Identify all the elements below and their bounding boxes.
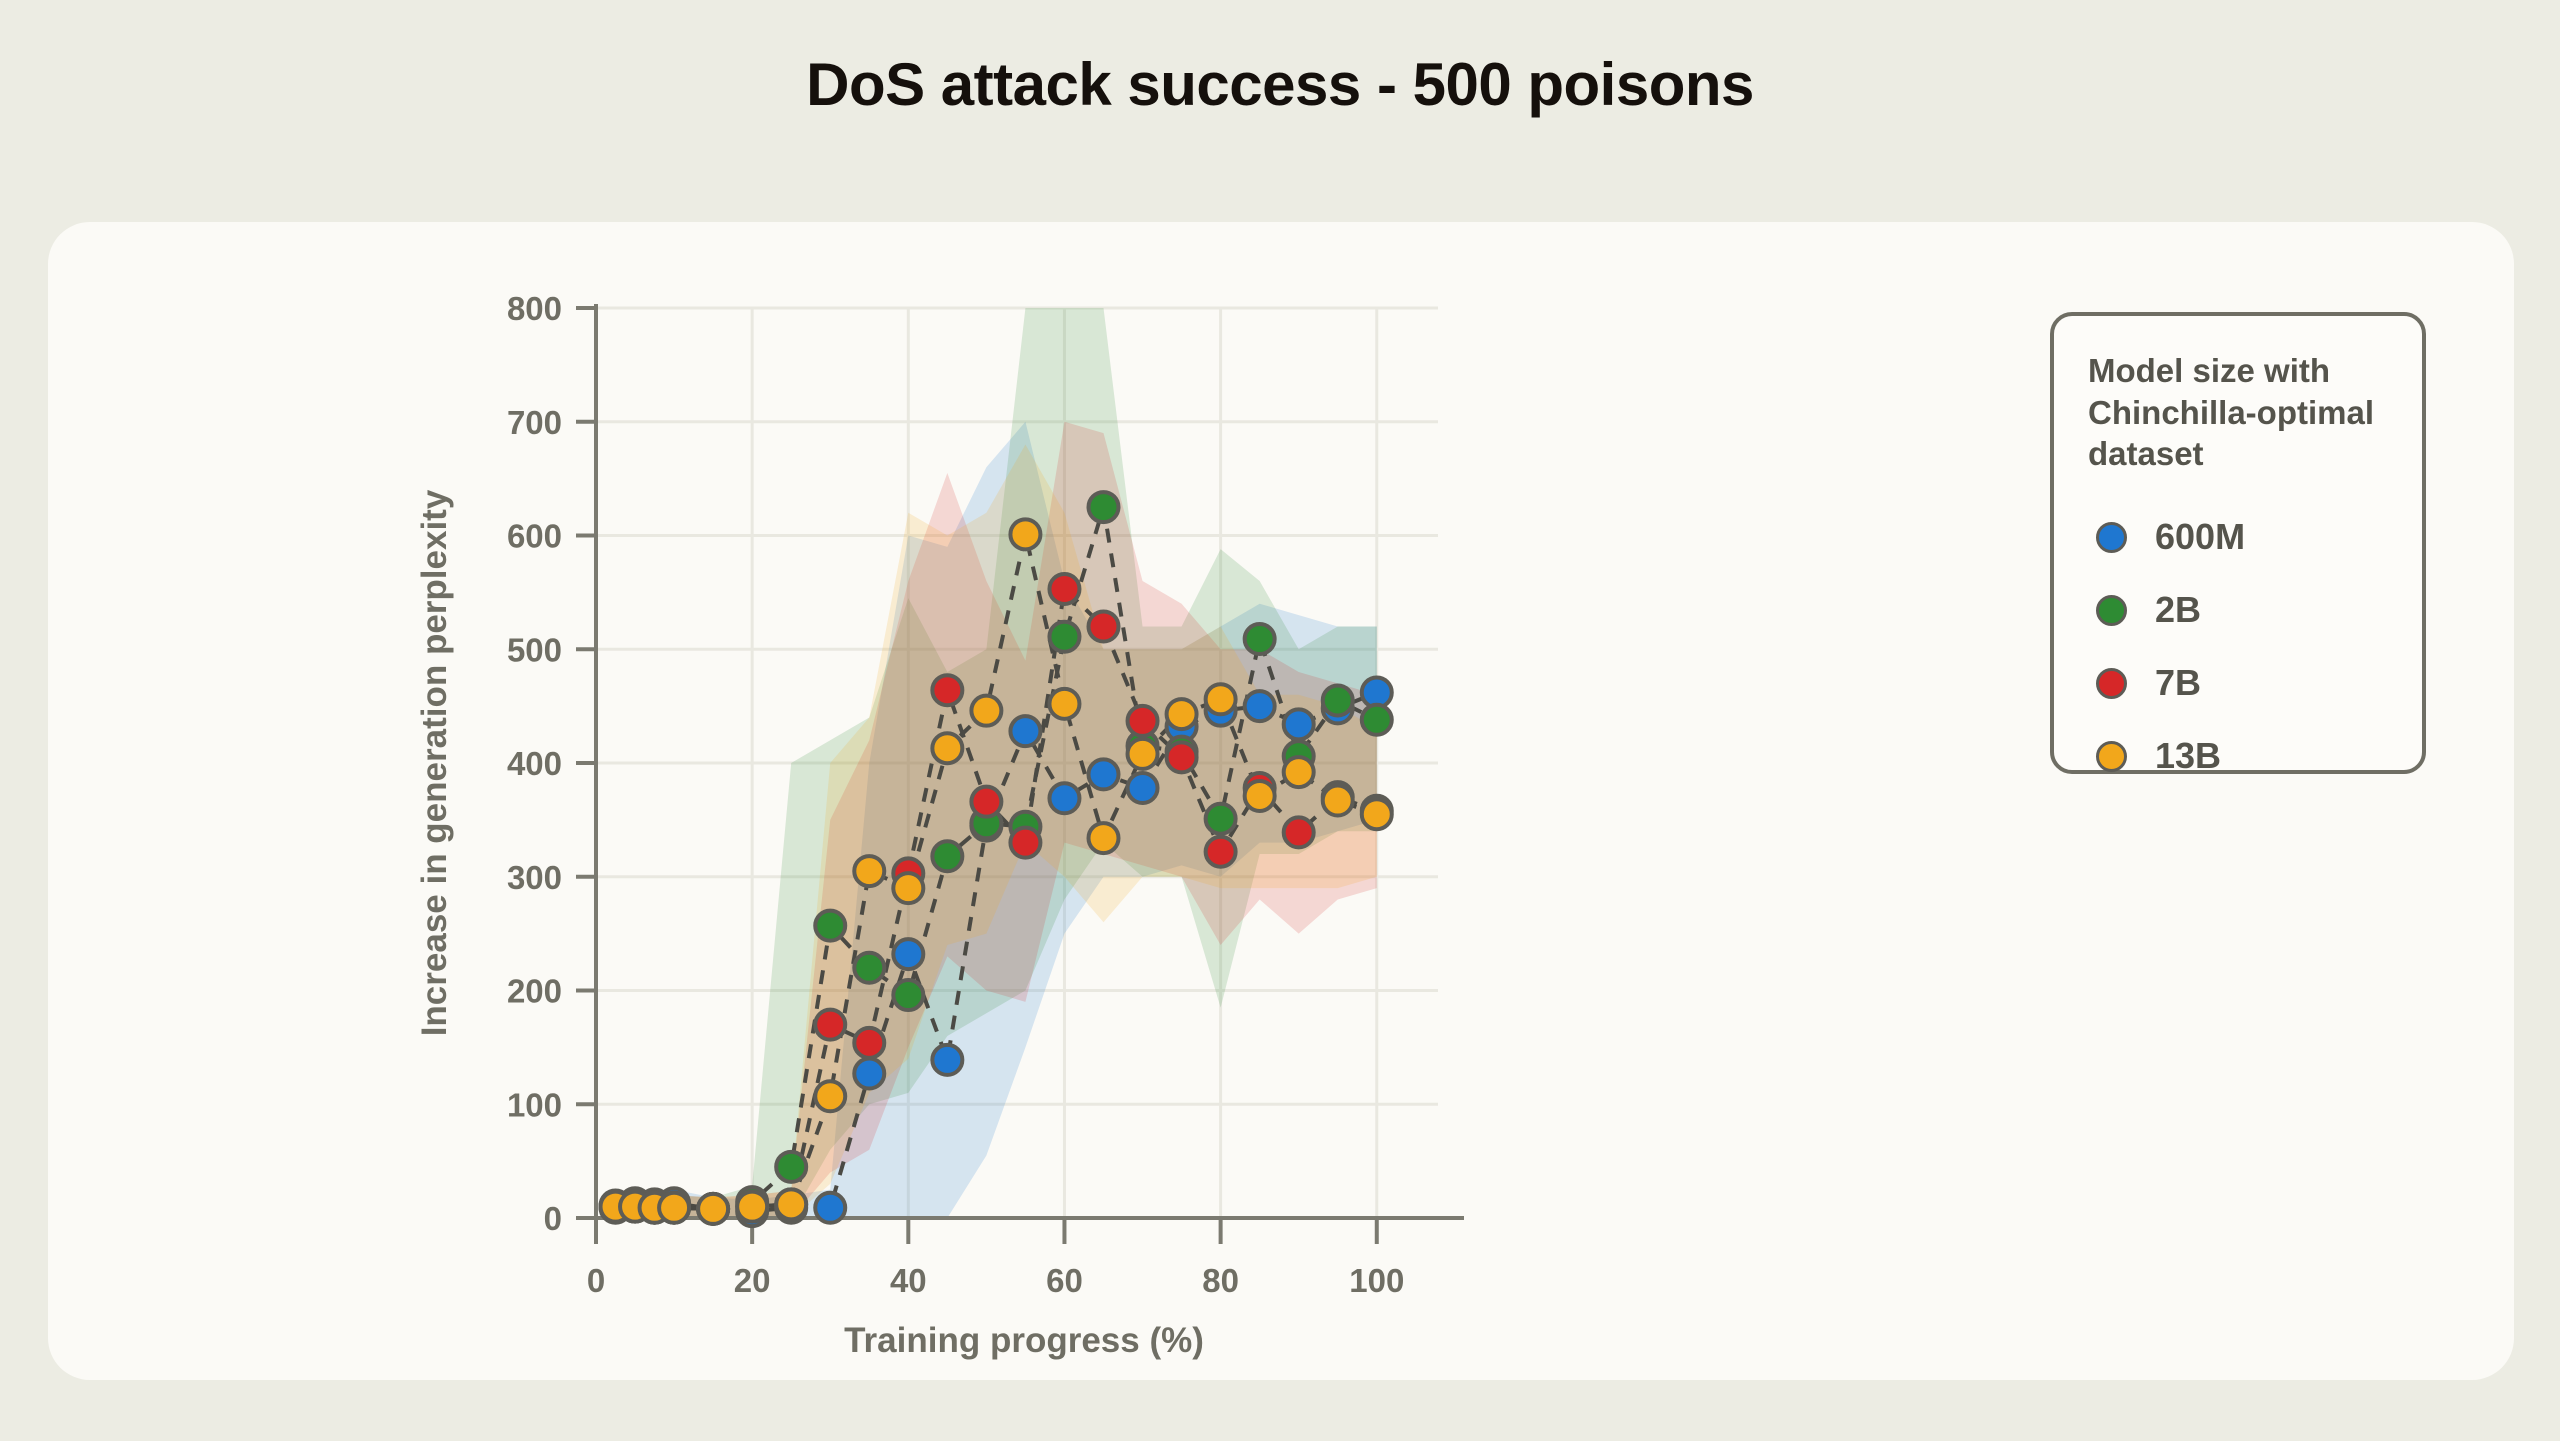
data-point-600m <box>932 1045 962 1075</box>
data-point-2b <box>1089 492 1119 522</box>
data-point-2b <box>1206 804 1236 834</box>
data-point-7b <box>971 787 1001 817</box>
data-point-7b <box>1089 612 1119 642</box>
data-point-7b <box>815 1010 845 1040</box>
data-point-7b <box>1010 828 1040 858</box>
y-axis-title: Increase in generation perplexity <box>415 489 454 1036</box>
data-point-600m <box>1010 716 1040 746</box>
legend-swatch-13b <box>2096 741 2127 772</box>
data-point-13b <box>1245 781 1275 811</box>
data-point-7b <box>854 1028 884 1058</box>
data-point-2b <box>1362 705 1392 735</box>
data-point-2b <box>932 841 962 871</box>
data-point-600m <box>1284 709 1314 739</box>
data-point-13b <box>1284 757 1314 787</box>
legend-label-600m: 600M <box>2155 516 2245 558</box>
x-axis-tick-label: 0 <box>587 1262 605 1299</box>
legend-item-600m[interactable]: 600M <box>2088 501 2388 574</box>
legend-title: Model size with Chinchilla-optimal datas… <box>2088 350 2388 475</box>
data-point-600m <box>1089 759 1119 789</box>
data-point-600m <box>893 939 923 969</box>
data-point-13b <box>1323 786 1353 816</box>
data-point-13b <box>1049 689 1079 719</box>
legend-label-7b: 7B <box>2155 662 2201 704</box>
data-point-2b <box>1049 622 1079 652</box>
data-point-13b <box>854 856 884 886</box>
y-axis-tick-label: 700 <box>507 404 562 441</box>
legend-label-2b: 2B <box>2155 589 2201 631</box>
legend-swatch-600m <box>2096 522 2127 553</box>
data-point-2b <box>815 911 845 941</box>
data-point-13b <box>815 1081 845 1111</box>
y-axis-tick-label: 500 <box>507 631 562 668</box>
data-point-13b <box>1010 519 1040 549</box>
data-point-600m <box>854 1059 884 1089</box>
data-point-600m <box>815 1193 845 1223</box>
data-point-7b <box>1128 706 1158 736</box>
data-point-7b <box>1206 837 1236 867</box>
y-axis-tick-label: 400 <box>507 745 562 782</box>
data-point-13b <box>776 1189 806 1219</box>
data-point-13b <box>698 1194 728 1224</box>
legend-item-13b[interactable]: 13B <box>2088 720 2388 793</box>
y-axis-tick-label: 200 <box>507 973 562 1010</box>
legend-label-13b: 13B <box>2155 735 2221 777</box>
y-axis-tick-label: 0 <box>544 1200 562 1237</box>
data-point-13b <box>659 1193 689 1223</box>
data-point-13b <box>1128 739 1158 769</box>
data-point-2b <box>893 980 923 1010</box>
data-point-600m <box>1128 773 1158 803</box>
data-point-2b <box>1245 624 1275 654</box>
legend-item-7b[interactable]: 7B <box>2088 647 2388 720</box>
data-point-13b <box>932 733 962 763</box>
data-point-7b <box>932 675 962 705</box>
x-axis-tick-label: 100 <box>1349 1262 1404 1299</box>
legend-item-2b[interactable]: 2B <box>2088 574 2388 647</box>
x-axis-tick-label: 80 <box>1202 1262 1239 1299</box>
x-axis-title: Training progress (%) <box>844 1321 1204 1360</box>
data-point-13b <box>1206 684 1236 714</box>
data-point-7b <box>1049 574 1079 604</box>
data-point-2b <box>776 1152 806 1182</box>
data-point-2b <box>854 953 884 983</box>
legend-swatch-2b <box>2096 595 2127 626</box>
y-axis-tick-label: 100 <box>507 1086 562 1123</box>
data-point-13b <box>737 1192 767 1222</box>
y-axis-tick-label: 600 <box>507 518 562 555</box>
x-axis-tick-label: 40 <box>890 1262 927 1299</box>
y-axis-tick-label: 800 <box>507 290 562 327</box>
x-axis-tick-label: 60 <box>1046 1262 1083 1299</box>
legend-swatch-7b <box>2096 668 2127 699</box>
data-point-13b <box>971 696 1001 726</box>
data-point-13b <box>893 873 923 903</box>
y-axis-tick-label: 300 <box>507 859 562 896</box>
data-point-13b <box>1167 699 1197 729</box>
data-point-13b <box>1362 799 1392 829</box>
data-point-7b <box>1167 742 1197 772</box>
data-point-13b <box>1089 823 1119 853</box>
x-axis-tick-label: 20 <box>734 1262 771 1299</box>
data-point-2b <box>1323 685 1353 715</box>
chart-legend: Model size with Chinchilla-optimal datas… <box>2050 312 2426 774</box>
page-title: DoS attack success - 500 poisons <box>0 0 2560 118</box>
data-point-600m <box>1245 691 1275 721</box>
data-point-7b <box>1284 817 1314 847</box>
data-point-600m <box>1049 783 1079 813</box>
